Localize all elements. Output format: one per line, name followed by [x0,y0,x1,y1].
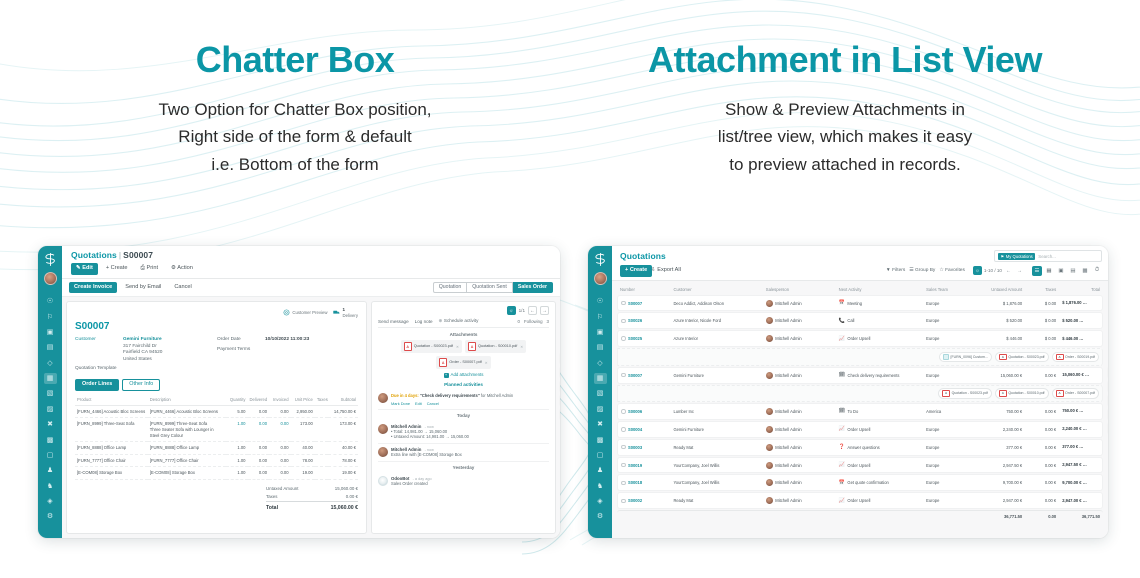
attachment-count[interactable]: 3 [547,319,549,324]
cell-sales-team: Europe [923,367,967,384]
chatter-action-bar: Send message Log note Schedule activity … [378,318,549,328]
status-quotation[interactable]: Quotation [433,282,468,293]
cell-salesperson: Mitchell Admin [763,492,836,509]
order-lines-body: [FURN_4466] Acoustic Bloc Screens [FURN_… [75,405,358,479]
cancel-button[interactable]: Cancel [169,282,196,294]
cell-next-activity: 📈Order Upsell [836,421,923,438]
attachment-name: Order - S00007.pdf [449,360,482,365]
sidebar-icon-inventory[interactable]: ◇ [594,358,607,369]
filter-icon: ⚑ [1001,254,1005,259]
cell-sales-team: America [923,403,967,420]
payment-terms-field: Payment Terms [217,347,309,353]
cell-description: [FURN_7777] Office Chair [148,454,226,467]
status-badge: Quotation [1083,299,1103,307]
avatar [378,393,388,403]
favorites-dropdown[interactable]: ☆ Favorites [939,268,965,273]
cell-delivered: 0.00 [248,442,270,455]
attachment-chip[interactable]: AQuotation - S00010.pdf [995,388,1049,399]
create-button[interactable]: + Create [101,263,133,275]
cell-untaxed-amount: $ 1,876.00 [967,295,1025,312]
avatar [766,444,773,451]
following-label[interactable]: Following [524,319,543,324]
cell-taxes [315,405,328,418]
cell-description: [FURN_8999] Three-Seat Sofa Three Seater… [148,418,226,442]
sidebar-icon-sales[interactable]: ▦ [44,373,57,384]
col-sales-team[interactable]: Sales Team [923,285,967,294]
list-footer-row: 36,771.500.0036,771.50 [617,510,1103,522]
record-number: S00019 [628,463,642,468]
form-sheet-area: Customer Preview 1 Delivery [62,297,560,538]
cell-untaxed-amount: 750.00 € [967,403,1025,420]
cell-next-activity: 📈Order Upsell [836,492,923,509]
cell-description: [E-COM08] Storage Box [148,467,226,480]
attachment-list: A Quotation - S00023.pdf ✕ A Quotation -… [378,340,549,369]
cell-delivered: 0.00 [248,454,270,467]
cell-product: [FURN_7777] Office Chair [75,454,148,467]
pencil-icon: ✎ [76,265,81,271]
table-row[interactable]: S00019YourCompany, Joel WillisMitchell A… [617,457,1103,474]
cell-total: 2,947.00 € Quotation [1059,492,1103,509]
message-item: Mitchell Admin - now • Total: 14,981.00 … [378,421,549,445]
cell-number: S00007 [617,295,670,312]
pager-previous-icon[interactable]: ← [528,306,537,315]
sidebar-icon-crm[interactable]: ⚐ [594,312,607,323]
sidebar-icon-sales[interactable]: ▦ [594,373,607,384]
list-body: S00007Deco Addict, Addison OlsonMitchell… [617,295,1103,523]
breadcrumb[interactable]: Quotations [620,251,666,261]
cell-total: 377.00 € Quotation [1059,439,1103,456]
col-taxes[interactable]: Taxes [315,395,328,406]
cell-customer: Ready Mat [670,439,762,456]
pdf-icon: A [439,358,447,367]
search-facet-my-quotations[interactable]: ⚑ My Quotations [998,253,1035,260]
sidebar-icon-recruitment[interactable]: ♞ [44,481,57,492]
chatter-panel: ☼ 1/1 ← → Send message Log note Schedule… [371,301,556,534]
remove-attachment-icon[interactable]: ✕ [520,345,523,349]
mark-done-link[interactable]: Mark Done [391,401,410,406]
edit-activity-link[interactable]: Edit [415,401,422,406]
hero-subtitle-left: Two Option for Chatter Box position, Rig… [20,96,570,179]
sidebar-icon-settings[interactable]: ⚙ [44,511,57,522]
col-salesperson[interactable]: Salesperson [763,285,836,294]
download-icon: ⇩ [651,267,656,273]
cell-untaxed-amount: 15,060.00 € [967,367,1025,384]
plus-icon: + [106,265,109,271]
sidebar-icon-calendar[interactable]: ▣ [44,327,57,338]
remove-attachment-icon[interactable]: ✕ [485,361,488,365]
sidebar-icon-website[interactable]: ✖ [44,419,57,430]
cell-untaxed-amount: $ 446.00 [967,330,1025,347]
status-badge: Quotation [1083,497,1103,505]
table-row[interactable]: S00007Gemini FurnitureMitchell Admin🗓Che… [617,367,1103,384]
chatter-pager: ☼ 1/1 ← → [378,306,549,315]
hero-subtitle-right: Show & Preview Attachments in list/tree … [570,96,1120,179]
attachment-chip-list: [FURN_0096] Custom...AQuotation - S00023… [621,352,1099,363]
row-checkbox[interactable] [621,463,626,468]
pager-next-icon[interactable]: → [1015,266,1024,275]
order-date-value[interactable]: 10/10/2022 11:00:23 [265,337,309,343]
attachment-row: [FURN_0096] Custom...AQuotation - S00023… [617,348,1103,366]
create-invoice-button[interactable]: Create Invoice [69,282,117,294]
planned-activities-heading: Planned activities [378,382,549,387]
message-item: OdooBot - a day ago Sales Order created [378,473,549,490]
print-button[interactable]: ⎙ Print [135,263,163,275]
cell-customer: YourCompany, Joel Willis [670,457,762,474]
table-row[interactable]: [FURN_8888] Office Lamp [FURN_8888] Offi… [75,442,358,455]
status-badge: Quotation [1079,443,1103,451]
row-checkbox[interactable] [621,427,626,432]
action-button-label: Action [177,265,193,271]
hero-subtitle-line: i.e. Bottom of the form [20,151,570,179]
attachment-chip[interactable]: AQuotation - S00023.pdf [938,388,992,399]
list-header-row: Number Customer Salesperson Next Activit… [617,285,1103,294]
attachment-card[interactable]: A Order - S00007.pdf ✕ [436,356,491,369]
row-checkbox[interactable] [621,301,626,306]
form-fields-left: Customer Gemini Furniture 317 Fairchild … [75,337,203,372]
sidebar-icon-dashboard[interactable]: ☉ [594,296,607,307]
table-row[interactable]: S00025Azure InteriorMitchell Admin📈Order… [617,330,1103,347]
cell-delivered: 0.00 [248,405,270,418]
tab-other-info[interactable]: Other Info [122,379,160,391]
customer-preview-stat[interactable]: Customer Preview [283,307,327,318]
settings-icon[interactable]: ☼ [973,266,982,275]
group-by-dropdown[interactable]: ☰ Group By [909,268,935,273]
graph-view-icon[interactable]: ▩ [1080,266,1090,276]
row-checkbox[interactable] [621,409,626,414]
followers-count[interactable]: 0 [518,319,520,324]
cell-quantity: 1.00 [226,454,248,467]
col-customer[interactable]: Customer [670,285,762,294]
send-message-button[interactable]: Send message [378,319,409,324]
attachment-chip[interactable]: AOrder - S00007.pdf [1052,388,1099,399]
table-row[interactable]: S00026Azure Interior, Nicole FordMitchel… [617,312,1103,329]
col-subtotal[interactable]: Subtotal [328,395,358,406]
row-checkbox[interactable] [621,373,626,378]
pager-count: 1/1 [519,308,525,313]
cell-sales-team: Europe [923,492,967,509]
attachments-heading: Attachments [378,332,549,337]
notebook-tabs: Order Lines Other Info [75,379,358,391]
table-row[interactable]: S00002Ready MatMitchell Admin📈Order Upse… [617,492,1103,509]
record-number: S00002 [628,498,642,503]
cell-total: $ 520.00 Quotation [1059,312,1103,329]
attachment-chip[interactable]: [FURN_0096] Custom... [939,352,991,363]
eye-icon [283,309,290,316]
cell-next-activity: 📅Get quote confirmation [836,474,923,491]
avatar [766,335,773,342]
breadcrumb-record: S00007 [123,250,153,260]
sidebar-icon-employees[interactable]: ♟ [44,465,57,476]
cell-next-activity: 📈Order Upsell [836,457,923,474]
attachment-name: Quotation - S00023.pdf [1008,355,1044,359]
table-row[interactable]: S00007Deco Addict, Addison OlsonMitchell… [617,295,1103,312]
cell-invoiced: 0.00 [269,467,291,480]
form-control-panel: Quotations|S00007 ✎ Edit + Create ⎙ Prin… [62,246,560,279]
cell-salesperson: Mitchell Admin [763,474,836,491]
send-by-email-button[interactable]: Send by Email [120,282,166,294]
cell-description: [FURN_8888] Office Lamp [148,442,226,455]
cell-subtotal: 19.00 € [328,467,358,480]
clock-icon: 🗓 [839,408,845,414]
cell-number: S00003 [617,439,670,456]
status-badge: Sales Order [1083,425,1103,433]
sidebar-icon-timesheet[interactable]: ▢ [594,450,607,461]
cancel-activity-link[interactable]: Cancel [427,401,439,406]
status-badge: Quotation Sent [1083,479,1103,487]
log-note-button[interactable]: Log note [415,319,433,324]
filters-dropdown[interactable]: ▼ Filters [886,268,905,273]
edit-button[interactable]: ✎ Edit [71,263,98,275]
odoo-logo-icon[interactable] [592,251,609,268]
pdf-icon: A [999,354,1007,361]
sidebar-icon-manufacturing[interactable]: ▨ [44,404,57,415]
table-row[interactable]: S00018YourCompany, Joel WillisMitchell A… [617,474,1103,491]
cell-sales-team: Europe [923,439,967,456]
form-fields-right: Order Date 10/10/2022 11:00:23 Payment T… [217,337,309,372]
col-taxes[interactable]: Taxes [1025,285,1059,294]
print-button-label: Print [147,265,159,271]
cell-sales-team: Europe [923,421,967,438]
cell-taxes: 0.00 € [1025,421,1059,438]
cell-taxes: 0.00 € [1025,367,1059,384]
message-body: • Total: 14,981.00 → 15,060.00 • Untaxed… [391,429,469,441]
sidebar-icon-timesheet[interactable]: ▢ [44,450,57,461]
avatar [766,300,773,307]
sidebar-icon-calendar[interactable]: ▣ [594,327,607,338]
cell-taxes: 0.00 € [1025,403,1059,420]
quotation-template-label: Quotation Template [75,366,117,372]
row-checkbox[interactable] [621,336,626,341]
sidebar-icon-dashboard[interactable]: ☉ [44,296,57,307]
row-checkbox[interactable] [621,319,626,324]
search-placeholder: Search... [1038,254,1056,259]
chatter-toggle-icon[interactable]: ☼ [507,306,516,315]
phone-icon: 📞 [839,318,845,324]
col-next-activity[interactable]: Next Activity [836,285,923,294]
filters-label: Filters [892,268,905,273]
cell-delivered: 0.00 [248,418,270,442]
cell-delivered: 0.00 [248,467,270,480]
table-row[interactable]: [FURN_7777] Office Chair [FURN_7777] Off… [75,454,358,467]
col-total[interactable]: Total [1059,285,1103,294]
calendar-icon: 📅 [839,300,845,306]
row-checkbox[interactable] [621,499,626,504]
delivery-label: 1 Delivery [342,307,358,318]
cell-quantity: 1.00 [226,467,248,480]
sidebar-icon-website[interactable]: ✖ [594,419,607,430]
customer-preview-label: Customer Preview [292,310,327,315]
calendar-view-icon[interactable]: ▣ [1056,266,1066,276]
attachment-name: [FURN_0096] Custom... [950,355,987,359]
hero-column-right: Attachment in List View Show & Preview A… [570,40,1120,178]
add-attachments-button[interactable]: Add attachments [378,372,549,378]
cell-unit-price: 173.00 [291,418,315,442]
order-date-field: Order Date 10/10/2022 11:00:23 [217,337,309,343]
status-badge: Sales Order [1083,461,1103,469]
sidebar-icon-apps[interactable]: ◈ [594,496,607,507]
pdf-icon: A [999,390,1007,397]
col-description[interactable]: Description [148,395,226,406]
col-invoiced[interactable]: Invoiced [269,395,291,406]
sidebar-icon-invoicing[interactable]: ▤ [594,342,607,353]
customer-field: Customer Gemini Furniture 317 Fairchild … [75,337,203,363]
cell-customer: YourCompany, Joel Willis [670,474,762,491]
image-icon [943,354,949,361]
sidebar-icon-inventory[interactable]: ◇ [44,358,57,369]
record-number: S00003 [628,445,642,450]
hero-title-right: Attachment in List View [570,40,1120,80]
avatar [766,479,773,486]
sidebar-icon-manufacturing[interactable]: ▨ [594,404,607,415]
table-row[interactable]: S00006Lumber IncMitchell Admin🗓To DoAmer… [617,403,1103,420]
search-input[interactable]: ⚑ My Quotations Search... [994,250,1102,262]
col-untaxed-amount[interactable]: Untaxed Amount [967,285,1025,294]
gear-icon: ⚙ [171,265,176,271]
status-quotation-sent[interactable]: Quotation Sent [467,282,513,293]
cell-taxes [315,442,328,455]
delivery-stat[interactable]: 1 Delivery [333,307,358,318]
user-avatar[interactable] [44,272,57,285]
cell-customer: Azure Interior, Nicole Ford [670,312,762,329]
cell-untaxed-amount: 2,947.00 € [967,492,1025,509]
footer-taxes: 0.00 [1025,510,1059,522]
pager-next-icon[interactable]: → [540,306,549,315]
record-number: S00026 [628,318,642,323]
cell-quantity: 1.00 [226,442,248,455]
cell-unit-price: 2,950.00 [291,405,315,418]
footer-spacer [617,510,967,522]
sidebar-icon-project[interactable]: ▩ [44,435,57,446]
message-section-heading: Yesterday [378,465,549,470]
cell-product: [FURN_4466] Acoustic Bloc Screens [75,405,148,418]
order-totals: Untaxed Amount 15,060.00 € Taxes 0.00 € … [75,485,358,512]
cell-customer: Deco Addict, Addison Olson [670,295,762,312]
status-sales-order[interactable]: Sales Order [513,282,553,293]
avatar [378,447,388,457]
attachment-chip-list: AQuotation - S00023.pdfAQuotation - S000… [621,388,1099,399]
message-section-heading: Today [378,413,549,418]
schedule-activity-button[interactable]: Schedule activity [439,318,479,324]
pivot-view-icon[interactable]: ▤ [1068,266,1078,276]
status-badge: Quotation [1079,335,1103,343]
sidebar-icon-crm[interactable]: ⚐ [44,312,57,323]
attachment-name: Quotation - S00010.pdf [478,344,517,349]
chart-icon: 📈 [839,462,845,468]
avatar [766,426,773,433]
attachment-row: AQuotation - S00023.pdfAQuotation - S000… [617,385,1103,403]
cell-salesperson: Mitchell Admin [763,330,836,347]
pdf-icon: A [1056,354,1064,361]
chart-icon: 📈 [839,498,845,504]
attachment-name: Order - S00007.pdf [1065,391,1095,395]
row-checkbox[interactable] [621,481,626,486]
sidebar-icon-invoicing[interactable]: ▤ [44,342,57,353]
row-checkbox[interactable] [621,445,626,450]
attachment-card[interactable]: A Quotation - S00010.pdf ✕ [465,340,526,353]
pdf-icon: A [942,390,950,397]
total-taxes-row: Taxes 0.00 € [266,492,358,500]
avatar [378,424,388,434]
table-row[interactable]: S00003Ready MatMitchell Admin❓Answer que… [617,439,1103,456]
remove-attachment-icon[interactable]: ✕ [456,345,459,349]
sidebar-icon-project[interactable]: ▩ [594,435,607,446]
customer-field-label: Customer [75,337,123,363]
avatar [766,462,773,469]
hero-column-left: Chatter Box Two Option for Chatter Box p… [20,40,570,178]
author-name: Mitchell Admin [391,424,421,429]
sidebar-icon-purchase[interactable]: ▧ [44,388,57,399]
cell-customer: Gemini Furniture [670,367,762,384]
avatar [766,497,773,504]
avatar [766,317,773,324]
hero-subtitle-line: Two Option for Chatter Box position, [20,96,570,124]
cell-subtotal: 78.00 € [328,454,358,467]
sidebar-icon-settings[interactable]: ⚙ [594,511,607,522]
cell-invoiced: 0.00 [269,418,291,442]
cell-taxes: $ 0.00 [1025,330,1059,347]
cell-number: S00002 [617,492,670,509]
pager-range: 1-10 / 10 [984,268,1002,273]
export-all-button[interactable]: ⇩ Export All [646,265,686,277]
attachment-card[interactable]: A Quotation - S00023.pdf ✕ [401,340,462,353]
tab-order-lines[interactable]: Order Lines [75,379,119,391]
customer-field-value[interactable]: Gemini Furniture 317 Fairchild Dr Fairfi… [123,337,162,363]
pager-previous-icon[interactable]: ← [1004,266,1013,275]
action-button[interactable]: ⚙ Action [166,263,198,275]
activity-view-icon[interactable]: ⏱ [1092,266,1102,276]
cell-number: S00007 [617,367,670,384]
col-number[interactable]: Number [617,285,670,294]
sidebar-icon-employees[interactable]: ♟ [594,465,607,476]
list-table-wrapper: Number Customer Salesperson Next Activit… [612,281,1108,538]
total-grand-value: 15,060.00 € [331,505,358,511]
kanban-view-icon[interactable]: ▦ [1044,266,1054,276]
cell-next-activity: 🗓Check delivery requirements [836,367,923,384]
table-row[interactable]: [E-COM08] Storage Box [E-COM08] Storage … [75,467,358,480]
cell-untaxed-amount: 9,700.00 € [967,474,1025,491]
table-row[interactable]: S00004Gemini FurnitureMitchell Admin📈Ord… [617,421,1103,438]
question-icon: ❓ [839,444,845,450]
col-quantity[interactable]: Quantity [226,395,248,406]
total-untaxed-value: 15,060.00 € [335,486,358,491]
user-avatar[interactable] [594,272,607,285]
col-product[interactable]: Product [75,395,148,406]
table-row[interactable]: [FURN_8999] Three-Seat Sofa [FURN_8999] … [75,418,358,442]
col-unit-price[interactable]: Unit Price [291,395,315,406]
sidebar-icon-apps[interactable]: ◈ [44,496,57,507]
col-delivered[interactable]: Delivered [248,395,270,406]
cell-salesperson: Mitchell Admin [763,439,836,456]
message-body: Sales Order created [391,481,432,487]
list-view-icon[interactable]: ☰ [1032,266,1042,276]
sidebar-icon-purchase[interactable]: ▧ [594,388,607,399]
cell-invoiced: 0.00 [269,442,291,455]
cell-sales-team: Europe [923,312,967,329]
form-action-buttons: ✎ Edit + Create ⎙ Print ⚙ Action [71,263,553,275]
cell-number: S00019 [617,457,670,474]
cell-description: [FURN_4466] Acoustic Bloc Screens [148,405,226,418]
sidebar-icon-recruitment[interactable]: ♞ [594,481,607,492]
table-row[interactable]: [FURN_4466] Acoustic Bloc Screens [FURN_… [75,405,358,418]
cell-customer: Azure Interior [670,330,762,347]
odoo-logo-icon[interactable] [42,251,59,268]
cell-total: $ 446.00 Quotation [1059,330,1103,347]
star-icon: ☆ [939,268,943,273]
record-number: S00018 [628,480,642,485]
breadcrumb-app[interactable]: Quotations [71,250,117,260]
attachment-chip[interactable]: AQuotation - S00023.pdf [995,352,1049,363]
attachment-chip[interactable]: AOrder - S00019.pdf [1052,352,1099,363]
